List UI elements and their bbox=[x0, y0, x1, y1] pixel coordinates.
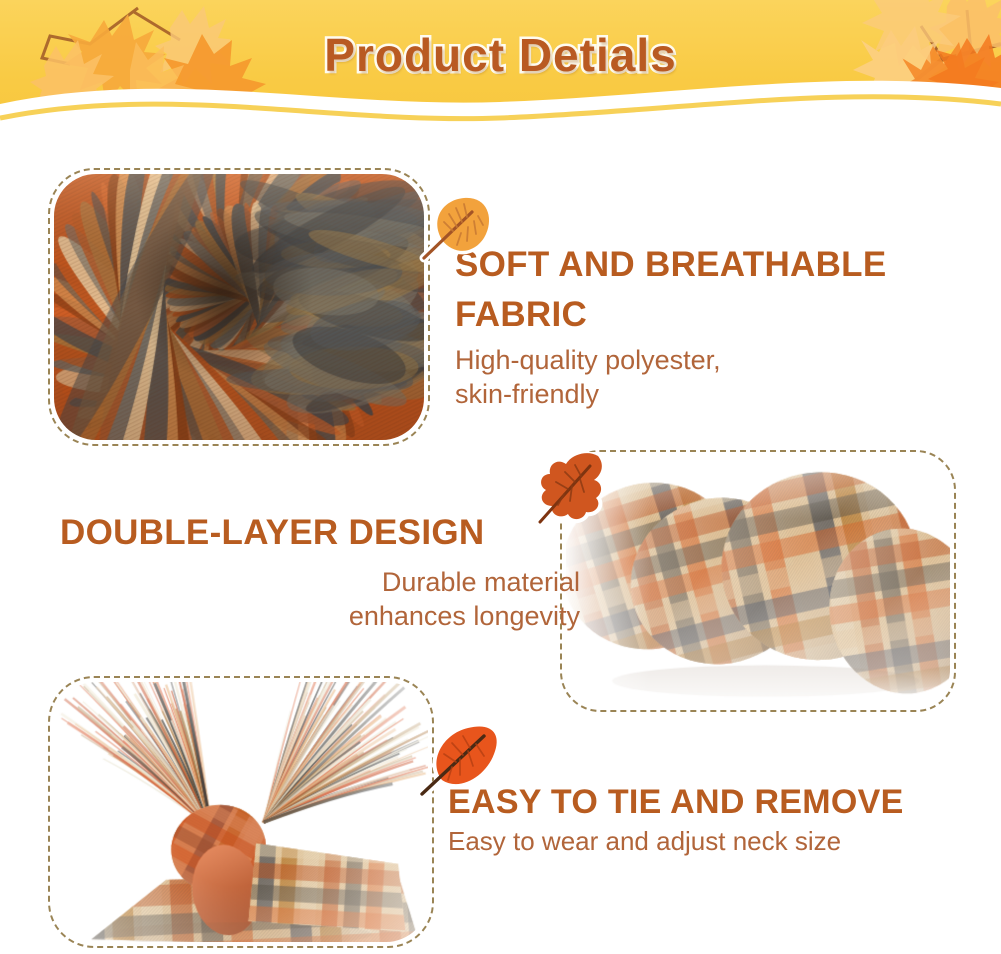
feature-subline: Durable material enhances longevity bbox=[60, 565, 580, 633]
photo-frame-inner bbox=[54, 682, 428, 942]
photo-frame-inner bbox=[566, 456, 950, 706]
feature-subline: High-quality polyester, skin-friendly bbox=[455, 343, 975, 411]
oak-leaf-icon bbox=[528, 452, 612, 526]
pointed-leaf-icon bbox=[418, 722, 502, 798]
feature-subline: Easy to wear and adjust neck size bbox=[448, 825, 993, 858]
banner-wave-divider bbox=[0, 74, 1001, 134]
folded-scarf-image bbox=[566, 456, 950, 706]
feature-headline: SOFT AND BREATHABLE FABRIC bbox=[455, 240, 955, 339]
photo-frame-inner bbox=[54, 174, 424, 440]
knotted-scarf-image bbox=[54, 682, 428, 942]
page-header-banner: Product Detials bbox=[0, 0, 1001, 134]
feature-text-double-layer: DOUBLE-LAYER DESIGN Durable material enh… bbox=[60, 512, 580, 633]
feature-photo-folded bbox=[560, 450, 956, 712]
feature-headline: DOUBLE-LAYER DESIGN bbox=[60, 512, 580, 555]
birch-leaf-icon bbox=[416, 192, 494, 264]
fabric-closeup-image bbox=[54, 174, 424, 440]
feature-text-soft-breathable: SOFT AND BREATHABLE FABRIC High-quality … bbox=[455, 240, 975, 411]
feature-headline: EASY TO TIE AND REMOVE bbox=[448, 782, 993, 823]
feature-text-easy-tie: EASY TO TIE AND REMOVE Easy to wear and … bbox=[448, 782, 993, 858]
feature-photo-fabric bbox=[48, 168, 430, 446]
feature-photo-knot bbox=[48, 676, 434, 948]
